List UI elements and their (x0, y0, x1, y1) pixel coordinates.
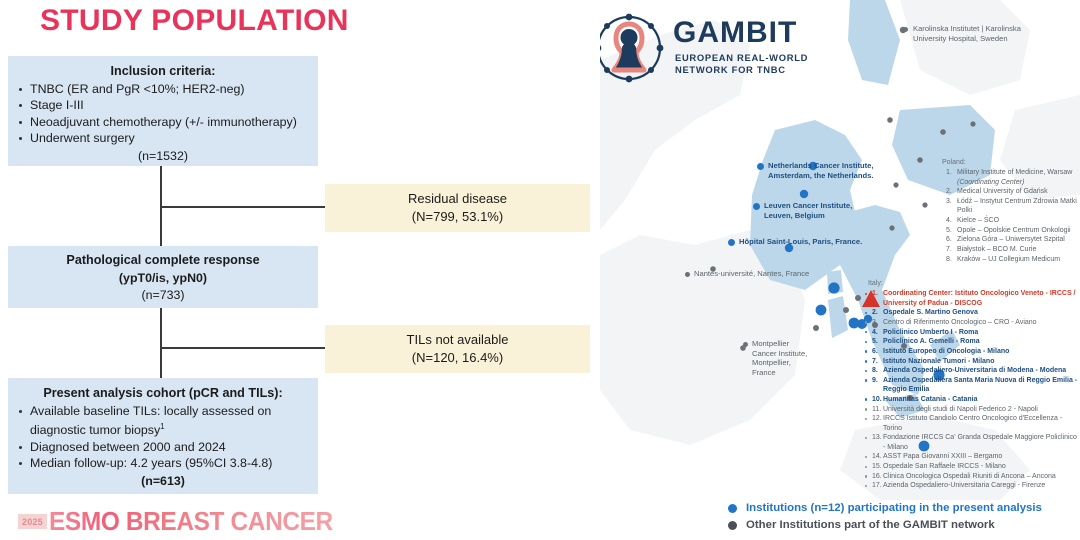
present-analysis-cohort-box: Present analysis cohort (pCR and TILs): … (8, 378, 318, 494)
map-label-netherlands: Netherlands Cancer Institute, Amsterdam,… (768, 161, 888, 180)
item-text: Kraków – UJ Collegium Medicum (957, 256, 1060, 263)
item-text: Azienda Ospedaliero-Universitaria di Mod… (883, 367, 1066, 374)
poland-list-header: Poland: (942, 158, 1080, 167)
item-number: 5. (946, 226, 952, 235)
esmo-year-badge: 2025 (18, 514, 47, 529)
item-number: 4. (872, 328, 878, 337)
item-text: Policlinico Umberto I - Roma (883, 329, 978, 336)
gambit-tagline-line1: EUROPEAN REAL-WORLD (675, 52, 808, 64)
item-text: Ospedale San Raffaele IRCCS - Milano (883, 463, 1006, 470)
study-population-panel: STUDY POPULATION Inclusion criteria: TNB… (0, 0, 600, 540)
italy-list: 1.Coordinating Center: Istituto Oncologi… (868, 289, 1080, 490)
item-number: 2. (946, 187, 952, 196)
item-number: 3. (872, 318, 878, 327)
tils-not-available-label: TILs not available (407, 331, 509, 349)
map-dot-nantes (685, 272, 690, 277)
footnote-marker: 1 (160, 422, 164, 431)
item-number: 1. (872, 289, 878, 298)
gambit-pawn-ring-icon (600, 10, 667, 86)
list-item: 12.IRCCS Istituto Candiolo Centro Oncolo… (868, 414, 1080, 433)
map-label-leuven: Leuven Cancer Institute, Leuven, Belgium (764, 201, 882, 220)
map-label-karolinska: Karolinska Institutet | Karolinska Unive… (913, 24, 1041, 43)
item-number: 8. (946, 255, 952, 264)
list-item: 10.Humanitas Catania - Catania (868, 395, 1080, 404)
gambit-tagline-line2: NETWORK FOR TNBC (675, 64, 808, 76)
list-item: 1.Military Institute of Medicine, Warsaw… (942, 168, 1080, 187)
item-number: 17. (872, 481, 882, 490)
item-number: 1. (946, 168, 952, 177)
list-item: 17.Azienda Ospedaliero-Universitaria Car… (868, 481, 1080, 490)
list-item: 3.Centro di Riferimento Oncologico – CRO… (868, 318, 1080, 327)
gambit-logo: GAMBIT EUROPEAN REAL-WORLD NETWORK FOR T… (600, 6, 826, 90)
item-text: Azienda Ospedaliera Santa Maria Nuova di… (883, 377, 1077, 393)
list-item: 5.Opole – Opolskie Centrum Onkologii (942, 226, 1080, 235)
list-item: 7.Białystok – BCO M. Curie (942, 245, 1080, 254)
item-number: 2. (872, 308, 878, 317)
list-item: 4.Policlinico Umberto I - Roma (868, 328, 1080, 337)
pathological-complete-response-box: Pathological complete response (ypT0/is,… (8, 246, 318, 308)
map-label-nantes: Nantes-université, Nantes, France (694, 269, 834, 279)
item-number: 6. (946, 235, 952, 244)
list-item: 16.Clinica Oncologica Ospedali Riuniti d… (868, 472, 1080, 481)
list-item: 9.Azienda Ospedaliera Santa Maria Nuova … (868, 376, 1080, 395)
item-note: (Coordinating Center) (957, 179, 1024, 186)
map-dot-leuven (753, 203, 760, 210)
list-item: Median follow-up: 4.2 years (95%CI 3.8-4… (16, 455, 310, 472)
legend-dot-other-icon (728, 521, 737, 530)
tils-not-available-box: TILs not available (N=120, 16.4%) (325, 325, 590, 373)
residual-disease-label: Residual disease (408, 190, 507, 208)
item-number: 15. (872, 462, 882, 471)
item-text: Ospedale S. Martino Genova (883, 309, 978, 316)
item-number: 6. (872, 347, 878, 356)
list-item: 8.Azienda Ospedaliero-Universitaria di M… (868, 366, 1080, 375)
item-text: Centro di Riferimento Oncologico – CRO -… (883, 319, 1037, 326)
list-item: TNBC (ER and PgR <10%; HER2-neg) (16, 81, 310, 98)
map-label-paris: Hôpital Saint-Louis, Paris, France. (739, 237, 879, 247)
tils-not-available-count: (N=120, 16.4%) (412, 349, 503, 367)
item-text: Zielona Góra – Uniwersytet Szpital (957, 236, 1065, 243)
item-text: Białystok – BCO M. Curie (957, 246, 1036, 253)
list-item: Diagnosed between 2000 and 2024 (16, 439, 310, 456)
item-number: 5. (872, 337, 878, 346)
legend-row-other: Other Institutions part of the GAMBIT ne… (728, 519, 1042, 531)
item-number: 12. (872, 414, 882, 423)
item-text: ASST Papa Giovanni XXIII – Bergamo (883, 453, 1002, 460)
residual-disease-count: (N=799, 53.1%) (412, 208, 503, 226)
item-number: 9. (872, 376, 878, 385)
map-legend: Institutions (n=12) participating in the… (728, 502, 1042, 536)
item-number: 3. (946, 197, 952, 206)
pcr-subheading: (ypT0/is, ypN0) (16, 270, 310, 287)
item-text: Humanitas Catania - Catania (883, 396, 978, 403)
connector-horizontal-tils (160, 347, 326, 349)
item-number: 14. (872, 452, 882, 461)
item-text: Istituto Nazionale Tumori - Milano (883, 358, 994, 365)
item-number: 7. (946, 245, 952, 254)
cohort-heading: Present analysis cohort (pCR and TILs): (16, 385, 310, 402)
item-number: 10. (872, 395, 882, 404)
esmo-wordmark: ESMO BREAST CANCER (49, 506, 333, 537)
legend-label-other: Other Institutions part of the GAMBIT ne… (746, 519, 995, 531)
cohort-list: Available baseline TILs: locally assesse… (16, 403, 310, 472)
inclusion-criteria-list: TNBC (ER and PgR <10%; HER2-neg) Stage I… (16, 81, 310, 147)
map-dot-paris (728, 239, 735, 246)
list-item: 2.Medical University of Gdańsk (942, 187, 1080, 196)
item-text: Kielce – ŚCO (957, 217, 999, 224)
connector-vertical-mid (160, 308, 162, 378)
italy-institution-list: Italy: 1.Coordinating Center: Istituto O… (868, 279, 1080, 491)
poland-list: 1.Military Institute of Medicine, Warsaw… (942, 168, 1080, 264)
legend-dot-participating-icon (728, 504, 737, 513)
inclusion-criteria-heading: Inclusion criteria: (16, 63, 310, 80)
map-dot-karolinska (903, 27, 908, 32)
list-item: 5.Policlinico A. Gemelli - Roma (868, 337, 1080, 346)
gambit-tagline: EUROPEAN REAL-WORLD NETWORK FOR TNBC (675, 52, 808, 76)
list-item: 15.Ospedale San Raffaele IRCCS - Milano (868, 462, 1080, 471)
page-title: STUDY POPULATION (40, 4, 349, 38)
poland-institution-list: Poland: 1.Military Institute of Medicine… (942, 158, 1080, 264)
list-item: 1.Coordinating Center: Istituto Oncologi… (868, 289, 1080, 308)
item-text: Łódź – Instytut Centrum Zdrowia Matki Po… (957, 198, 1077, 214)
residual-disease-box: Residual disease (N=799, 53.1%) (325, 184, 590, 232)
cohort-count: (n=613) (16, 473, 310, 490)
inclusion-count: (n=1532) (16, 148, 310, 165)
list-item: Underwent surgery (16, 130, 310, 147)
gambit-wordmark: GAMBIT (673, 18, 797, 48)
item-number: 16. (872, 472, 882, 481)
item-text: Opole – Opolskie Centrum Onkologii (957, 227, 1071, 234)
list-item: 2.Ospedale S. Martino Genova (868, 308, 1080, 317)
cohort-item-text: Available baseline TILs: locally assesse… (30, 404, 271, 438)
item-number: 13. (872, 433, 882, 442)
gambit-network-map-panel: GAMBIT EUROPEAN REAL-WORLD NETWORK FOR T… (600, 0, 1080, 540)
list-item: 8.Kraków – UJ Collegium Medicum (942, 255, 1080, 264)
list-item: 14.ASST Papa Giovanni XXIII – Bergamo (868, 452, 1080, 461)
list-item: 6.Zielona Góra – Uniwersytet Szpital (942, 235, 1080, 244)
list-item: 6.Istituto Europeo di Oncologia - Milano (868, 347, 1080, 356)
italy-list-header: Italy: (868, 279, 1080, 288)
map-dot-montpellier (743, 342, 748, 347)
connector-horizontal-residual (160, 206, 326, 208)
list-item: Stage I-III (16, 97, 310, 114)
item-number: 4. (946, 216, 952, 225)
item-text: Clinica Oncologica Ospedali Riuniti di A… (883, 473, 1056, 480)
list-item: Available baseline TILs: locally assesse… (16, 403, 310, 439)
item-text: Istituto Europeo di Oncologia - Milano (883, 348, 1009, 355)
inclusion-criteria-box: Inclusion criteria: TNBC (ER and PgR <10… (8, 56, 318, 166)
list-item: 4.Kielce – ŚCO (942, 216, 1080, 225)
item-text: Università degli studi di Napoli Federic… (883, 406, 1038, 413)
slide-root: STUDY POPULATION Inclusion criteria: TNB… (0, 0, 1080, 540)
item-text: Medical University of Gdańsk (957, 188, 1048, 195)
map-dot-netherlands (757, 163, 764, 170)
esmo-breast-cancer-logo: 2025 ESMO BREAST CANCER (18, 506, 351, 536)
pcr-heading: Pathological complete response (16, 252, 310, 269)
list-item: 3.Łódź – Instytut Centrum Zdrowia Matki … (942, 197, 1080, 216)
list-item: Neoadjuvant chemotherapy (+/- immunother… (16, 114, 310, 131)
item-text: Policlinico A. Gemelli - Roma (883, 338, 980, 345)
pcr-count: (n=733) (16, 287, 310, 304)
legend-row-participating: Institutions (n=12) participating in the… (728, 502, 1042, 514)
item-number: 11. (872, 405, 881, 414)
item-number: 8. (872, 366, 878, 375)
item-text: IRCCS Istituto Candiolo Centro Oncologic… (883, 415, 1062, 431)
map-label-montpellier: Montpellier Cancer Institute, Montpellie… (752, 339, 814, 377)
item-text: Military Institute of Medicine, Warsaw (957, 169, 1072, 176)
item-text: Coordinating Center: Istituto Oncologico… (883, 290, 1076, 306)
list-item: 13.Fondazione IRCCS Ca' Granda Ospedale … (868, 433, 1080, 452)
item-text: Azienda Ospedaliero-Universitaria Caregg… (883, 482, 1045, 489)
legend-label-participating: Institutions (n=12) participating in the… (746, 502, 1042, 514)
item-number: 7. (872, 357, 878, 366)
item-text: Fondazione IRCCS Ca' Granda Ospedale Mag… (883, 434, 1077, 450)
list-item: 7.Istituto Nazionale Tumori - Milano (868, 357, 1080, 366)
list-item: 11.Università degli studi di Napoli Fede… (868, 405, 1080, 414)
